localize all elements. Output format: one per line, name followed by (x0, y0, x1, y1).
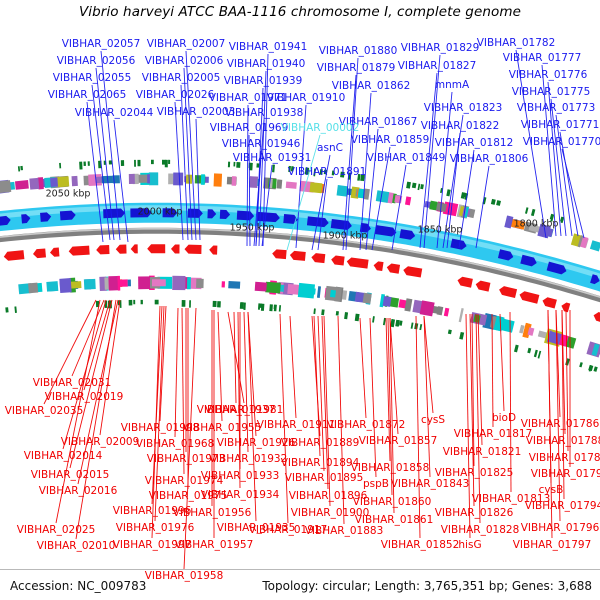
gene-label-reverse[interactable]: VIBHAR_02031 (33, 377, 112, 389)
gene-label-forward[interactable]: VIBHAR_02065 (48, 89, 127, 101)
gene-label-forward[interactable]: VIBHAR_02003 (157, 106, 236, 118)
gene-label-reverse[interactable]: VIBHAR_01976 (116, 522, 195, 534)
gene-label-forward[interactable]: VIBHAR_01770 (523, 136, 600, 148)
gene-label-reverse[interactable]: VIBHAR_01889 (281, 437, 360, 449)
gene-label-reverse[interactable]: VIBHAR_01786 (521, 418, 600, 430)
gene-label-forward[interactable]: VIBHAR_02044 (75, 107, 154, 119)
gene-label-reverse[interactable]: VIBHAR_01933 (201, 470, 280, 482)
gene-label-forward[interactable]: VIBHAR_02005 (142, 72, 221, 84)
gene-label-forward[interactable]: VIBHAR_01862 (332, 80, 411, 92)
gene-label-reverse[interactable]: VIBHAR_02035 (5, 405, 84, 417)
gene-label-reverse[interactable]: VIBHAR_02019 (45, 391, 124, 403)
gene-label-reverse[interactable]: VIBHAR_01894 (281, 457, 360, 469)
gene-label-reverse[interactable]: VIBHAR_01789 (529, 452, 600, 464)
gene-label-reverse[interactable]: VIBHAR_01828 (441, 524, 520, 536)
scale-tick-label: 2050 kbp (46, 189, 91, 200)
gene-label-forward[interactable]: VIBHAR_01829 (401, 42, 480, 54)
gene-label-reverse[interactable]: VIBHAR_01955 (183, 422, 262, 434)
gene-label-reverse[interactable]: VIBHAR_02015 (31, 469, 110, 481)
gene-label-reverse[interactable]: hisG (458, 539, 481, 551)
gene-label-reverse[interactable]: VIBHAR_01957 (175, 539, 254, 551)
gene-label-reverse[interactable]: VIBHAR_01937 (197, 404, 276, 416)
gene-label-reverse[interactable]: VIBHAR_01934 (201, 489, 280, 501)
gene-label-reverse[interactable]: VIBHAR_02009 (61, 436, 140, 448)
gene-label-reverse[interactable]: VIBHAR_01817 (454, 428, 533, 440)
gene-label-forward[interactable]: VIBHAR_01969 (210, 122, 289, 134)
gene-label-forward[interactable]: asnC (317, 142, 343, 154)
gene-label-forward[interactable]: VIBHAR_01910 (267, 92, 346, 104)
gene-label-reverse[interactable]: pspB (363, 478, 389, 490)
gene-label-reverse[interactable]: VIBHAR_01826 (435, 507, 514, 519)
gene-label-reverse[interactable]: cysS (421, 414, 445, 426)
gene-label-forward[interactable]: VIBHAR_00002 (281, 122, 360, 134)
gene-label-reverse[interactable]: VIBHAR_01932 (209, 453, 288, 465)
footer-divider (0, 569, 600, 570)
gene-label-reverse[interactable]: VIBHAR_01852 (381, 539, 460, 551)
genome-summary-text: Topology: circular; Length: 3,765,351 bp… (262, 579, 592, 593)
gene-label-forward[interactable]: VIBHAR_02006 (145, 55, 224, 67)
gene-label-forward[interactable]: VIBHAR_01773 (517, 102, 596, 114)
gene-label-forward[interactable]: VIBHAR_01931 (233, 152, 312, 164)
gene-label-forward[interactable]: VIBHAR_01812 (435, 137, 514, 149)
gene-label-forward[interactable]: VIBHAR_02026 (136, 89, 215, 101)
scale-tick-label: 1850 kbp (418, 225, 463, 236)
gene-label-reverse[interactable]: VIBHAR_01872 (327, 419, 406, 431)
scale-tick-label: 1900 kbp (323, 231, 368, 242)
gene-label-reverse[interactable]: VIBHAR_02010 (37, 540, 116, 552)
gene-label-forward[interactable]: VIBHAR_01849 (367, 152, 446, 164)
gene-label-reverse[interactable]: VIBHAR_01857 (359, 435, 438, 447)
gene-label-reverse[interactable]: VIBHAR_01796 (521, 522, 600, 534)
gene-label-forward[interactable]: VIBHAR_01806 (450, 153, 529, 165)
gene-label-forward[interactable]: VIBHAR_01938 (225, 107, 304, 119)
scale-tick-label: 1800 kbp (514, 219, 559, 230)
gene-label-reverse[interactable]: VIBHAR_02016 (39, 485, 118, 497)
gene-label-forward[interactable]: VIBHAR_01775 (512, 86, 591, 98)
gene-label-forward[interactable]: VIBHAR_01940 (227, 58, 306, 70)
gene-label-forward[interactable]: VIBHAR_01880 (319, 45, 398, 57)
gene-label-forward[interactable]: VIBHAR_01777 (503, 52, 582, 64)
gene-label-reverse[interactable]: VIBHAR_01883 (305, 525, 384, 537)
gene-label-reverse[interactable]: VIBHAR_01797 (513, 539, 592, 551)
gene-label-forward[interactable]: VIBHAR_02056 (57, 55, 136, 67)
gene-label-forward[interactable]: VIBHAR_01776 (509, 69, 588, 81)
gene-label-reverse[interactable]: VIBHAR_02014 (24, 450, 103, 462)
gene-label-forward[interactable]: VIBHAR_02057 (62, 38, 141, 50)
gene-label-reverse[interactable]: VIBHAR_01790 (531, 468, 600, 480)
genome-map-viewer: Vibrio harveyi ATCC BAA-1116 chromosome … (0, 0, 600, 600)
gene-label-forward[interactable]: VIBHAR_01859 (351, 134, 430, 146)
gene-label-reverse[interactable]: bioD (492, 412, 516, 424)
gene-label-reverse[interactable]: VIBHAR_01895 (285, 472, 364, 484)
gene-label-forward[interactable]: mnmA (435, 79, 469, 91)
gene-label-reverse[interactable]: VIBHAR_01843 (391, 478, 470, 490)
accession-text: Accession: NC_009783 (10, 579, 146, 593)
gene-label-reverse[interactable]: VIBHAR_02025 (17, 524, 96, 536)
gene-label-forward[interactable]: VIBHAR_01891 (288, 166, 367, 178)
gene-label-forward[interactable]: VIBHAR_01823 (424, 102, 503, 114)
gene-label-forward[interactable]: VIBHAR_01827 (398, 60, 477, 72)
gene-label-forward[interactable]: VIBHAR_01946 (222, 138, 301, 150)
gene-label-reverse[interactable]: VIBHAR_01794 (525, 500, 600, 512)
gene-label-forward[interactable]: VIBHAR_01879 (317, 62, 396, 74)
gene-label-forward[interactable]: VIBHAR_01941 (229, 41, 308, 53)
gene-label-forward[interactable]: VIBHAR_01939 (224, 75, 303, 87)
scale-tick-label: 2000 kbp (138, 207, 183, 218)
gene-label-reverse[interactable]: VIBHAR_01956 (173, 507, 252, 519)
gene-label-forward[interactable]: VIBHAR_02007 (147, 38, 226, 50)
scale-tick-label: 1950 kbp (230, 223, 275, 234)
gene-label-reverse[interactable]: VIBHAR_01911 (257, 419, 336, 431)
gene-label-reverse[interactable]: VIBHAR_01821 (443, 446, 522, 458)
gene-label-forward[interactable]: VIBHAR_01771 (521, 119, 600, 131)
gene-label-reverse[interactable]: VIBHAR_01968 (136, 438, 215, 450)
gene-label-reverse[interactable]: VIBHAR_01958 (145, 570, 224, 582)
gene-label-forward[interactable]: VIBHAR_01782 (477, 37, 556, 49)
gene-label-forward[interactable]: VIBHAR_01822 (421, 120, 500, 132)
gene-label-forward[interactable]: VIBHAR_02055 (53, 72, 132, 84)
gene-label-reverse[interactable]: VIBHAR_01788 (526, 435, 600, 447)
